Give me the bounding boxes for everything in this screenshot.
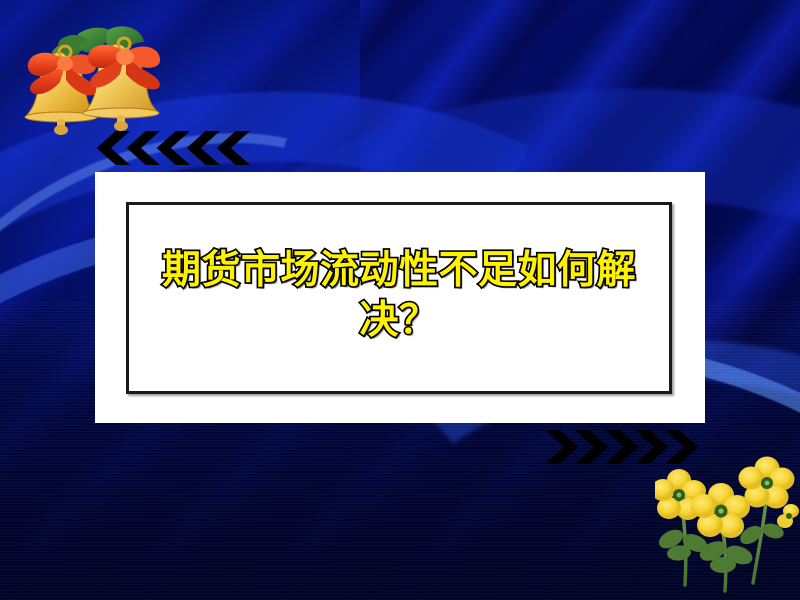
slide-canvas: 期货市场流动性不足如何解决？ [0, 0, 800, 600]
flower-head-icon [739, 457, 795, 509]
title-panel: 期货市场流动性不足如何解决？ [95, 172, 705, 423]
yellow-flowers-decoration [655, 455, 800, 600]
flowers-icon [655, 455, 800, 600]
christmas-bells-decoration [8, 14, 180, 136]
chevron-left-icon [186, 131, 220, 165]
chevron-left-row [96, 131, 246, 165]
page-title: 期货市场流动性不足如何解决？ [149, 246, 649, 345]
chevron-left-icon [216, 131, 250, 165]
chevron-left-icon [126, 131, 160, 165]
chevron-right-icon [575, 430, 609, 464]
chevron-left-icon [156, 131, 190, 165]
chevron-right-icon [605, 430, 639, 464]
chevron-right-icon [545, 430, 579, 464]
bells-icon [8, 14, 180, 136]
title-inner-frame: 期货市场流动性不足如何解决？ [126, 202, 672, 394]
chevron-left-icon [96, 131, 130, 165]
